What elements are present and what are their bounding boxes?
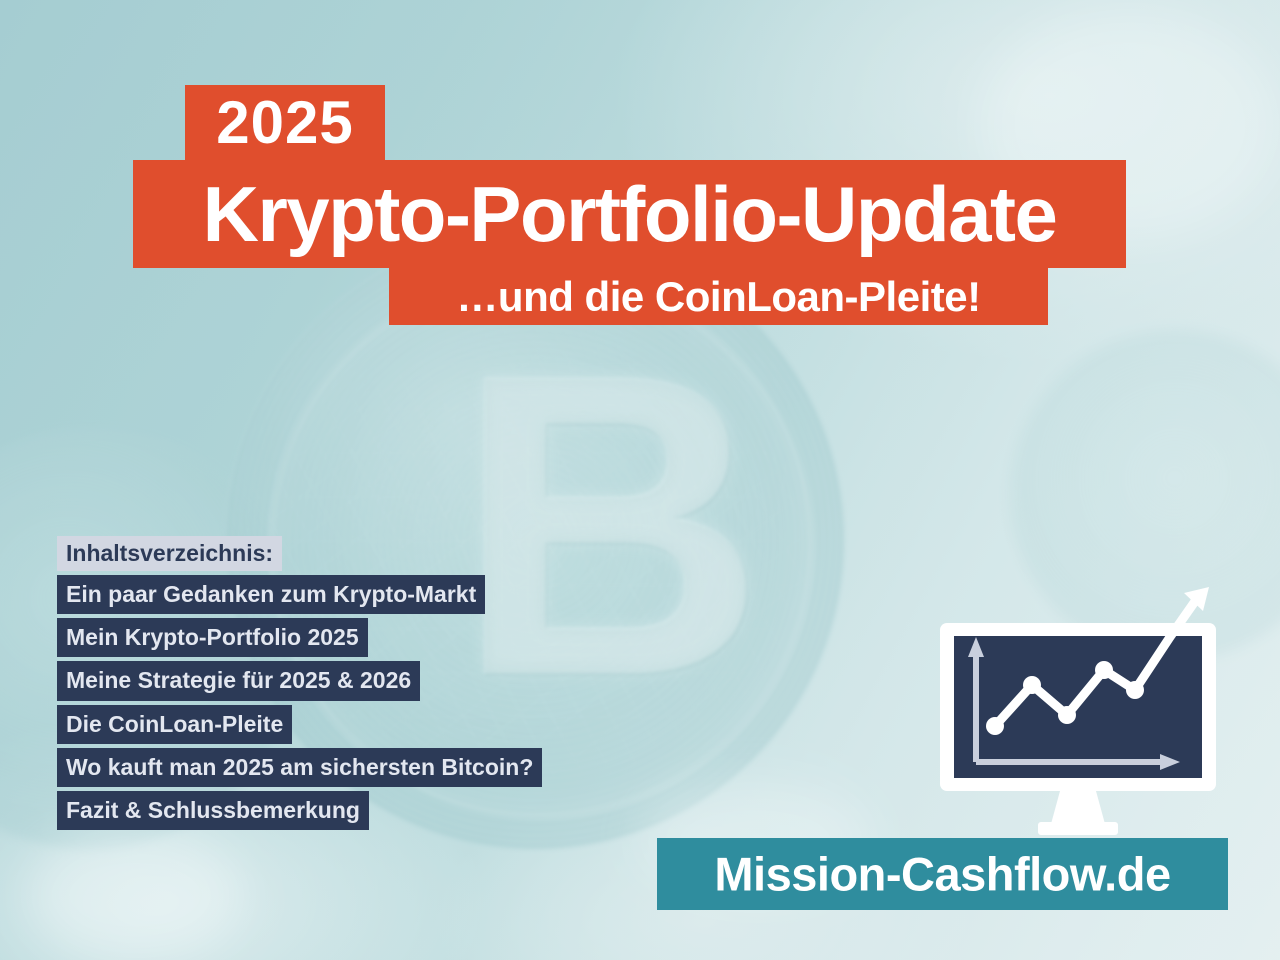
- subtitle-bar: …und die CoinLoan-Pleite!: [389, 268, 1048, 325]
- headline-bar: Krypto-Portfolio-Update: [133, 160, 1126, 268]
- toc-item-coinloan-pleite[interactable]: Die CoinLoan-Pleite: [57, 705, 292, 744]
- page-subtitle: …und die CoinLoan-Pleite!: [389, 276, 1048, 318]
- brand-name: Mission-Cashflow.de: [657, 851, 1228, 898]
- toc-item-fazit[interactable]: Fazit & Schlussbemerkung: [57, 791, 369, 830]
- year-badge: 2025: [185, 85, 385, 161]
- monitor-growth-chart-icon: [932, 575, 1224, 840]
- toc-heading: Inhaltsverzeichnis:: [57, 536, 282, 571]
- toc-item-krypto-markt[interactable]: Ein paar Gedanken zum Krypto-Markt: [57, 575, 485, 614]
- thumbnail-canvas: B 2025 Krypto-Portfolio-Update …und die …: [0, 0, 1280, 960]
- toc-item-portfolio-2025[interactable]: Mein Krypto-Portfolio 2025: [57, 618, 368, 657]
- toc-item-wo-kaufen[interactable]: Wo kauft man 2025 am sichersten Bitcoin?: [57, 748, 542, 787]
- brand-banner[interactable]: Mission-Cashflow.de: [657, 838, 1228, 910]
- page-title: Krypto-Portfolio-Update: [133, 175, 1126, 253]
- table-of-contents: Inhaltsverzeichnis: Ein paar Gedanken zu…: [57, 536, 542, 830]
- year-badge-label: 2025: [185, 93, 385, 153]
- toc-item-strategie[interactable]: Meine Strategie für 2025 & 2026: [57, 661, 420, 700]
